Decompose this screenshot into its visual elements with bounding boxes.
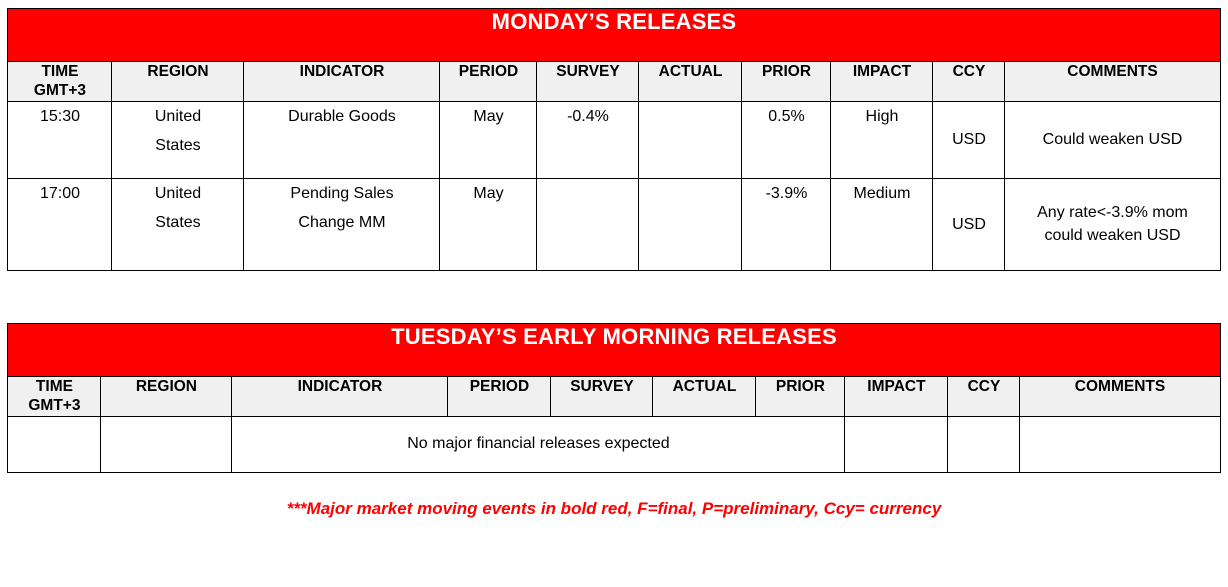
cell-indicator-line1: Pending Sales	[244, 179, 439, 209]
cell-ccy: USD	[933, 101, 1005, 178]
cell-time: 15:30	[8, 101, 112, 178]
column-header-time-line1: TIME	[8, 377, 100, 396]
column-header-indicator: INDICATOR	[232, 376, 448, 416]
footer-note: ***Major market moving events in bold re…	[0, 499, 1228, 519]
cell-no-releases-message: No major financial releases expected	[232, 416, 845, 472]
cell-survey: -0.4%	[537, 101, 639, 178]
cell-region: United States	[112, 101, 244, 178]
tuesdays-releases-banner-title: TUESDAY’S EARLY MORNING RELEASES	[8, 323, 1220, 376]
cell-region	[101, 416, 232, 472]
table-header-row: TIME GMT+3 REGION INDICATOR PERIOD SURVE…	[8, 62, 1220, 102]
cell-survey	[537, 178, 639, 270]
cell-prior: 0.5%	[742, 101, 831, 178]
column-header-time-line1: TIME	[8, 62, 111, 81]
column-header-ccy: CCY	[933, 62, 1005, 102]
cell-impact: High	[831, 101, 933, 178]
cell-indicator: Pending Sales Change MM	[244, 178, 440, 270]
cell-region-line2: States	[112, 131, 243, 161]
column-header-region: REGION	[112, 62, 244, 102]
cell-region-line1: United	[112, 179, 243, 209]
column-header-time: TIME GMT+3	[8, 376, 101, 416]
tuesdays-early-morning-releases-table: TUESDAY’S EARLY MORNING RELEASES TIME GM…	[7, 323, 1220, 473]
cell-indicator-line2: Change MM	[244, 208, 439, 238]
column-header-region: REGION	[101, 376, 232, 416]
column-header-prior: PRIOR	[742, 62, 831, 102]
mondays-releases-banner-title: MONDAY’S RELEASES	[8, 9, 1220, 62]
cell-comments	[1020, 416, 1220, 472]
column-header-prior: PRIOR	[756, 376, 845, 416]
column-header-time: TIME GMT+3	[8, 62, 112, 102]
table-gap-spacer	[0, 271, 1228, 323]
cell-comments: Any rate<-3.9% mom could weaken USD	[1005, 178, 1220, 270]
cell-region-line2: States	[112, 208, 243, 238]
cell-impact	[845, 416, 948, 472]
cell-period: May	[440, 101, 537, 178]
column-header-actual: ACTUAL	[639, 62, 742, 102]
cell-impact: Medium	[831, 178, 933, 270]
cell-time: 17:00	[8, 178, 112, 270]
cell-actual	[639, 101, 742, 178]
mondays-releases-table: MONDAY’S RELEASES TIME GMT+3 REGION INDI…	[7, 8, 1220, 271]
cell-comments: Could weaken USD	[1005, 101, 1220, 178]
column-header-comments: COMMENTS	[1020, 376, 1220, 416]
cell-time	[8, 416, 101, 472]
cell-prior: -3.9%	[742, 178, 831, 270]
column-header-survey: SURVEY	[551, 376, 653, 416]
table-header-row: TIME GMT+3 REGION INDICATOR PERIOD SURVE…	[8, 376, 1220, 416]
cell-comments-line1: Any rate<-3.9% mom	[1011, 201, 1213, 224]
column-header-comments: COMMENTS	[1005, 62, 1220, 102]
table-banner-row: MONDAY’S RELEASES	[8, 9, 1220, 62]
column-header-actual: ACTUAL	[653, 376, 756, 416]
table-row: No major financial releases expected	[8, 416, 1220, 472]
column-header-ccy: CCY	[948, 376, 1020, 416]
cell-region: United States	[112, 178, 244, 270]
column-header-period: PERIOD	[448, 376, 551, 416]
cell-comments-line2: could weaken USD	[1011, 224, 1213, 247]
column-header-time-line2: GMT+3	[8, 396, 100, 415]
releases-calendar-page: MONDAY’S RELEASES TIME GMT+3 REGION INDI…	[0, 0, 1228, 587]
table-row: 17:00 United States Pending Sales Change…	[8, 178, 1220, 270]
column-header-indicator: INDICATOR	[244, 62, 440, 102]
table-banner-row: TUESDAY’S EARLY MORNING RELEASES	[8, 323, 1220, 376]
cell-ccy	[948, 416, 1020, 472]
cell-indicator: Durable Goods	[244, 101, 440, 178]
cell-period: May	[440, 178, 537, 270]
cell-indicator-line1: Durable Goods	[244, 102, 439, 132]
top-spacer	[0, 0, 1228, 8]
column-header-impact: IMPACT	[831, 62, 933, 102]
cell-region-line1: United	[112, 102, 243, 132]
table-row: 15:30 United States Durable Goods May -0…	[8, 101, 1220, 178]
column-header-impact: IMPACT	[845, 376, 948, 416]
cell-actual	[639, 178, 742, 270]
column-header-period: PERIOD	[440, 62, 537, 102]
column-header-time-line2: GMT+3	[8, 81, 111, 100]
column-header-survey: SURVEY	[537, 62, 639, 102]
cell-comments-line1: Could weaken USD	[1011, 128, 1213, 151]
cell-ccy: USD	[933, 178, 1005, 270]
